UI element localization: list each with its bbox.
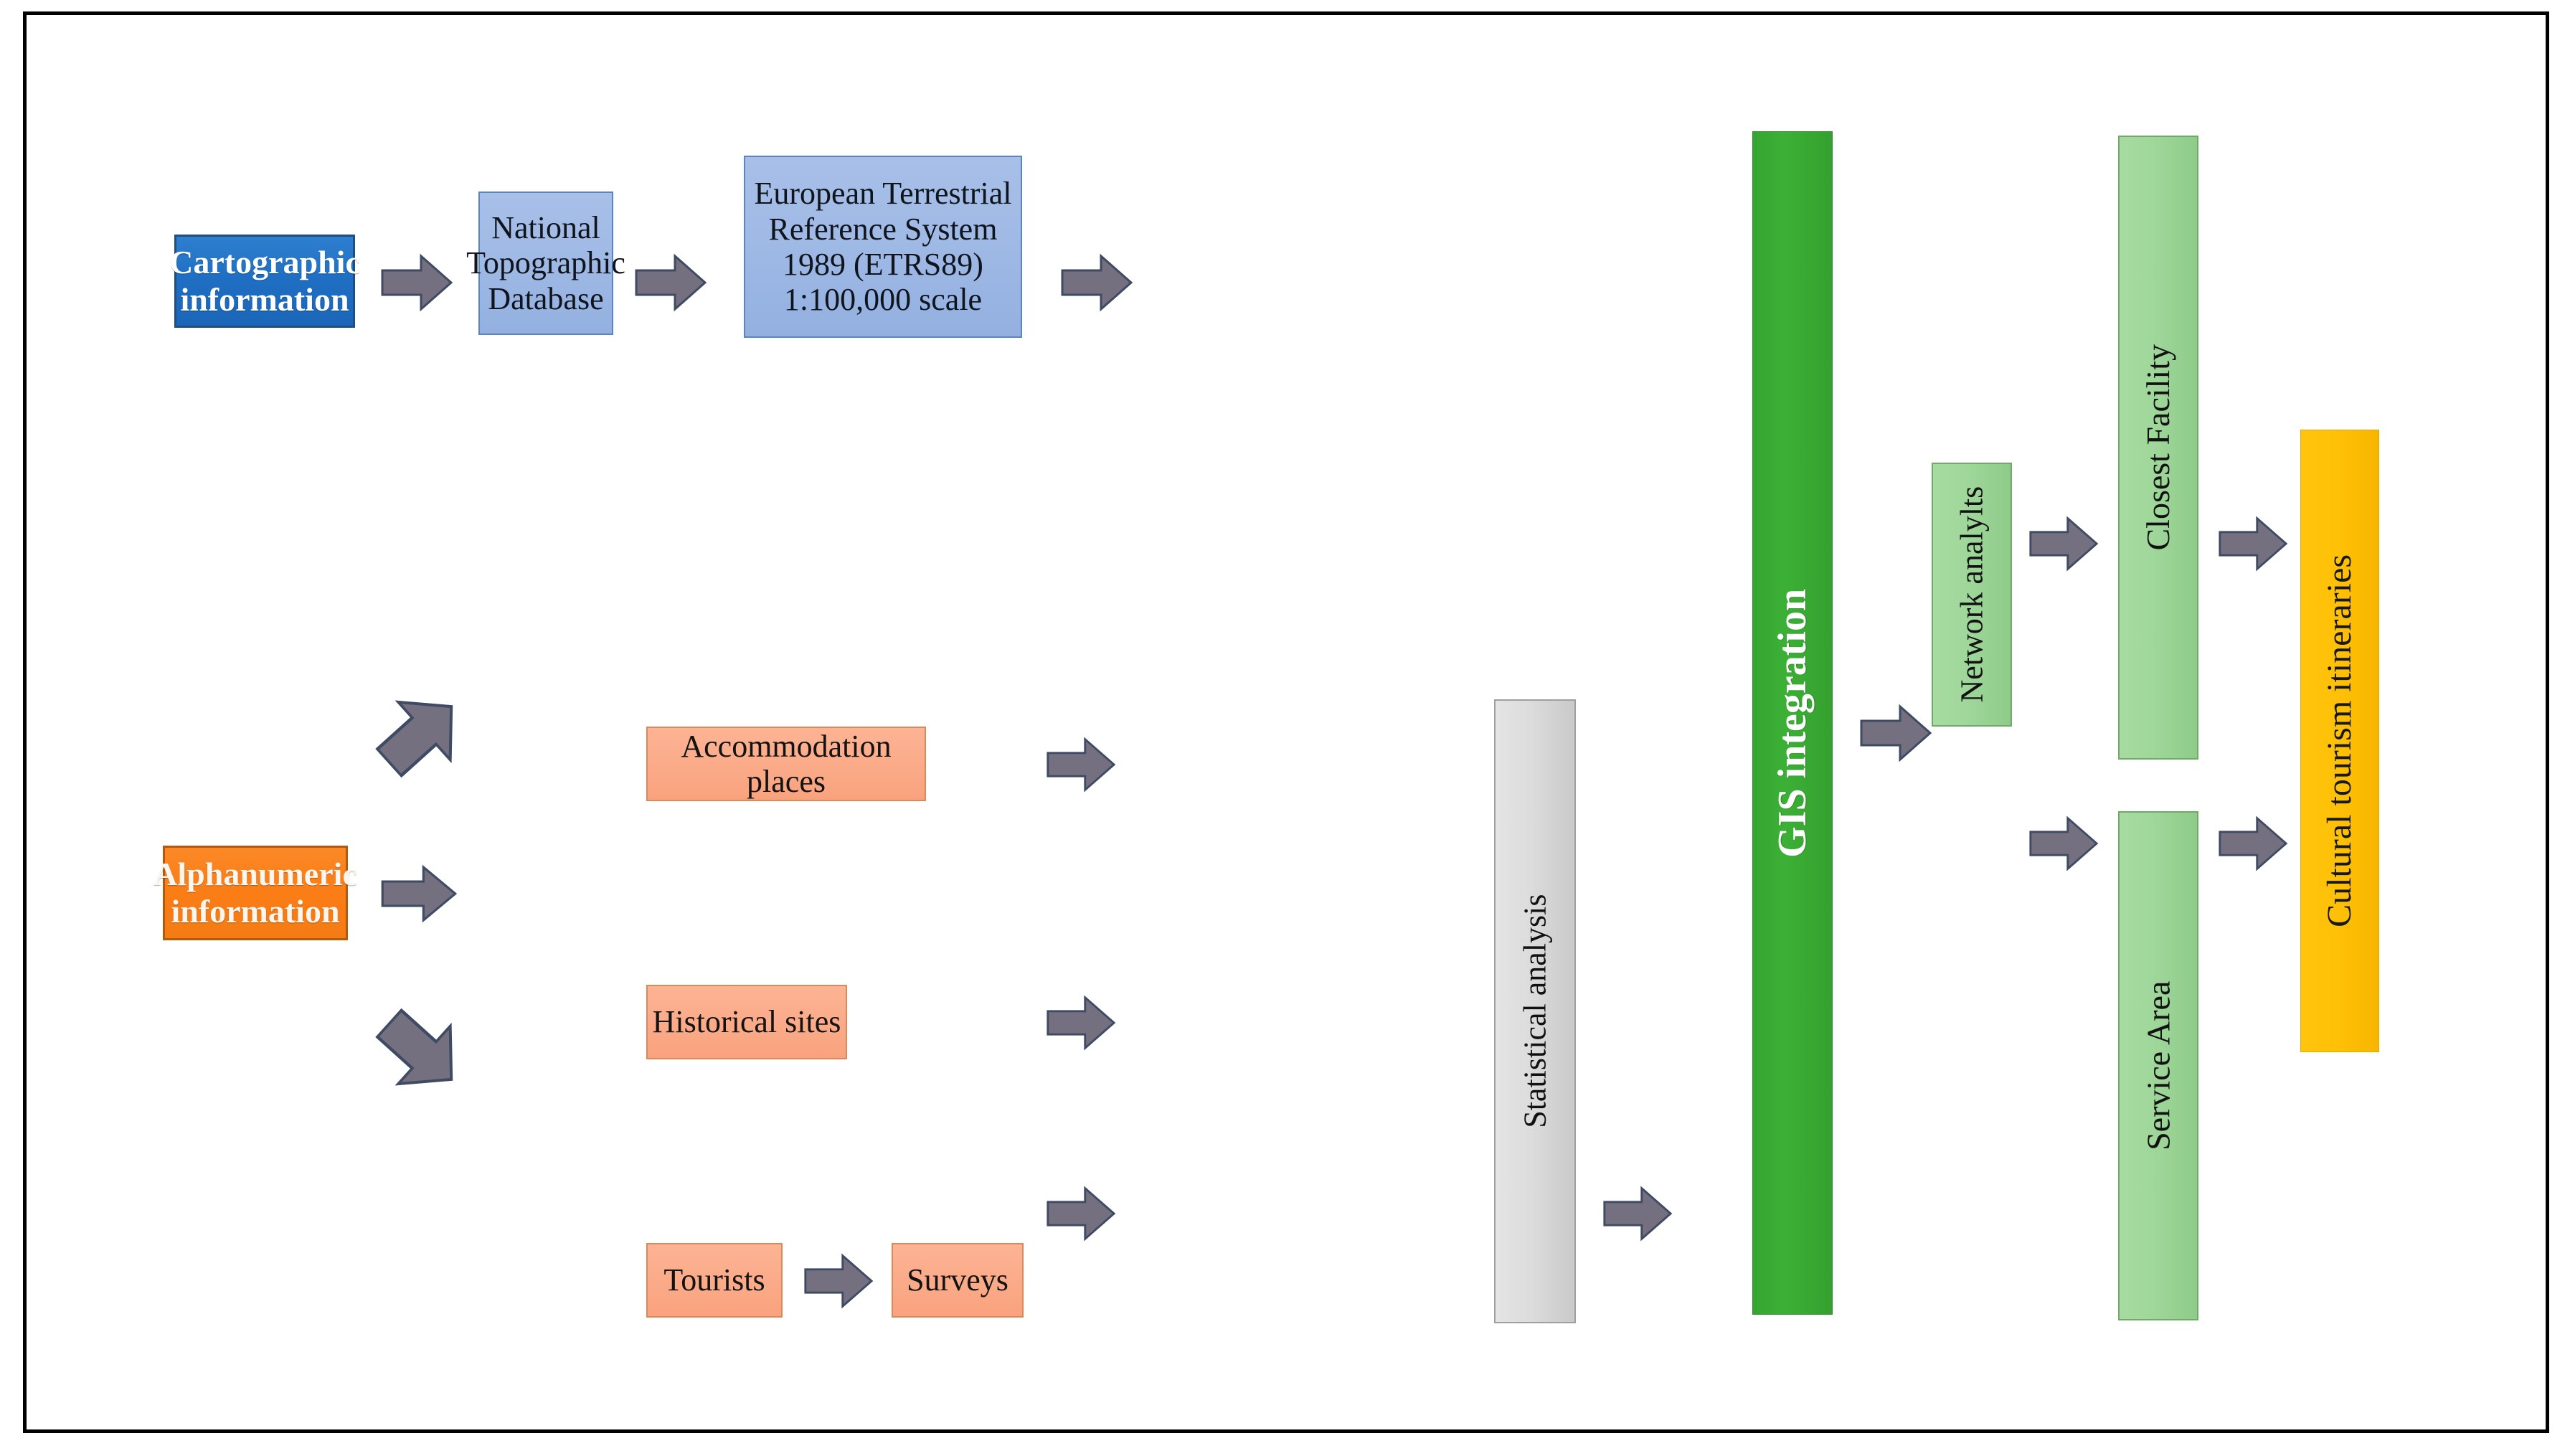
arrow-statistical-to-gis	[1602, 1184, 1673, 1243]
node-statistical-analysis-label: Statistical analysis	[1517, 894, 1552, 1128]
node-network-analysis-label: Network analylts	[1954, 486, 1989, 703]
node-etrs89[interactable]: European Terrestrial Reference System 19…	[744, 156, 1022, 338]
node-statistical-analysis[interactable]: Statistical analysis	[1494, 699, 1576, 1323]
arrow-alphanumeric-to-accommodation	[356, 671, 484, 798]
arrow-gis-to-network	[1858, 702, 1933, 764]
node-service-area[interactable]: Service Area	[2118, 811, 2198, 1320]
arrow-network-to-service-area	[2028, 814, 2099, 873]
node-gis-integration-label: GIS integration	[1770, 589, 1815, 858]
node-cartographic-information[interactable]: Cartographic information	[174, 235, 355, 328]
node-accommodation-places[interactable]: Accommodation places	[646, 727, 926, 801]
node-cultural-tourism-itineraries-label: Cultural tourism itineraries	[2320, 554, 2359, 927]
arrow-etrs89-to-gis	[1059, 252, 1134, 313]
arrow-service-area-to-itineraries	[2217, 814, 2289, 873]
node-alphanumeric-information[interactable]: Alphanumeric information	[163, 846, 348, 940]
node-surveys[interactable]: Surveys	[892, 1243, 1024, 1318]
arrow-tourists-to-surveys	[803, 1252, 874, 1310]
arrow-network-to-closest-facility	[2028, 514, 2099, 573]
node-closest-facility-label: Closest Facility	[2140, 344, 2177, 551]
node-closest-facility[interactable]: Closest Facility	[2118, 136, 2198, 760]
node-tourists[interactable]: Tourists	[646, 1243, 783, 1318]
node-cultural-tourism-itineraries[interactable]: Cultural tourism itineraries	[2300, 430, 2379, 1052]
arrow-cartographic-to-ntd	[379, 252, 454, 313]
node-network-analysis[interactable]: Network analylts	[1932, 463, 2012, 727]
arrow-accommodation-to-statistical	[1045, 735, 1117, 794]
node-national-topographic-database[interactable]: National Topographic Database	[478, 192, 613, 335]
diagram-frame: Cartographic information National Topogr…	[23, 11, 2549, 1433]
arrow-alphanumeric-to-historical	[379, 863, 458, 925]
node-service-area-label: Service Area	[2140, 981, 2177, 1150]
arrow-historical-to-statistical	[1045, 993, 1117, 1052]
arrow-surveys-to-statistical	[1045, 1184, 1117, 1243]
arrow-alphanumeric-to-tourists	[356, 988, 484, 1115]
node-gis-integration[interactable]: GIS integration	[1752, 131, 1833, 1315]
node-historical-sites[interactable]: Historical sites	[646, 985, 847, 1059]
arrow-closest-facility-to-itineraries	[2217, 514, 2289, 573]
arrow-ntd-to-etrs89	[633, 252, 708, 313]
